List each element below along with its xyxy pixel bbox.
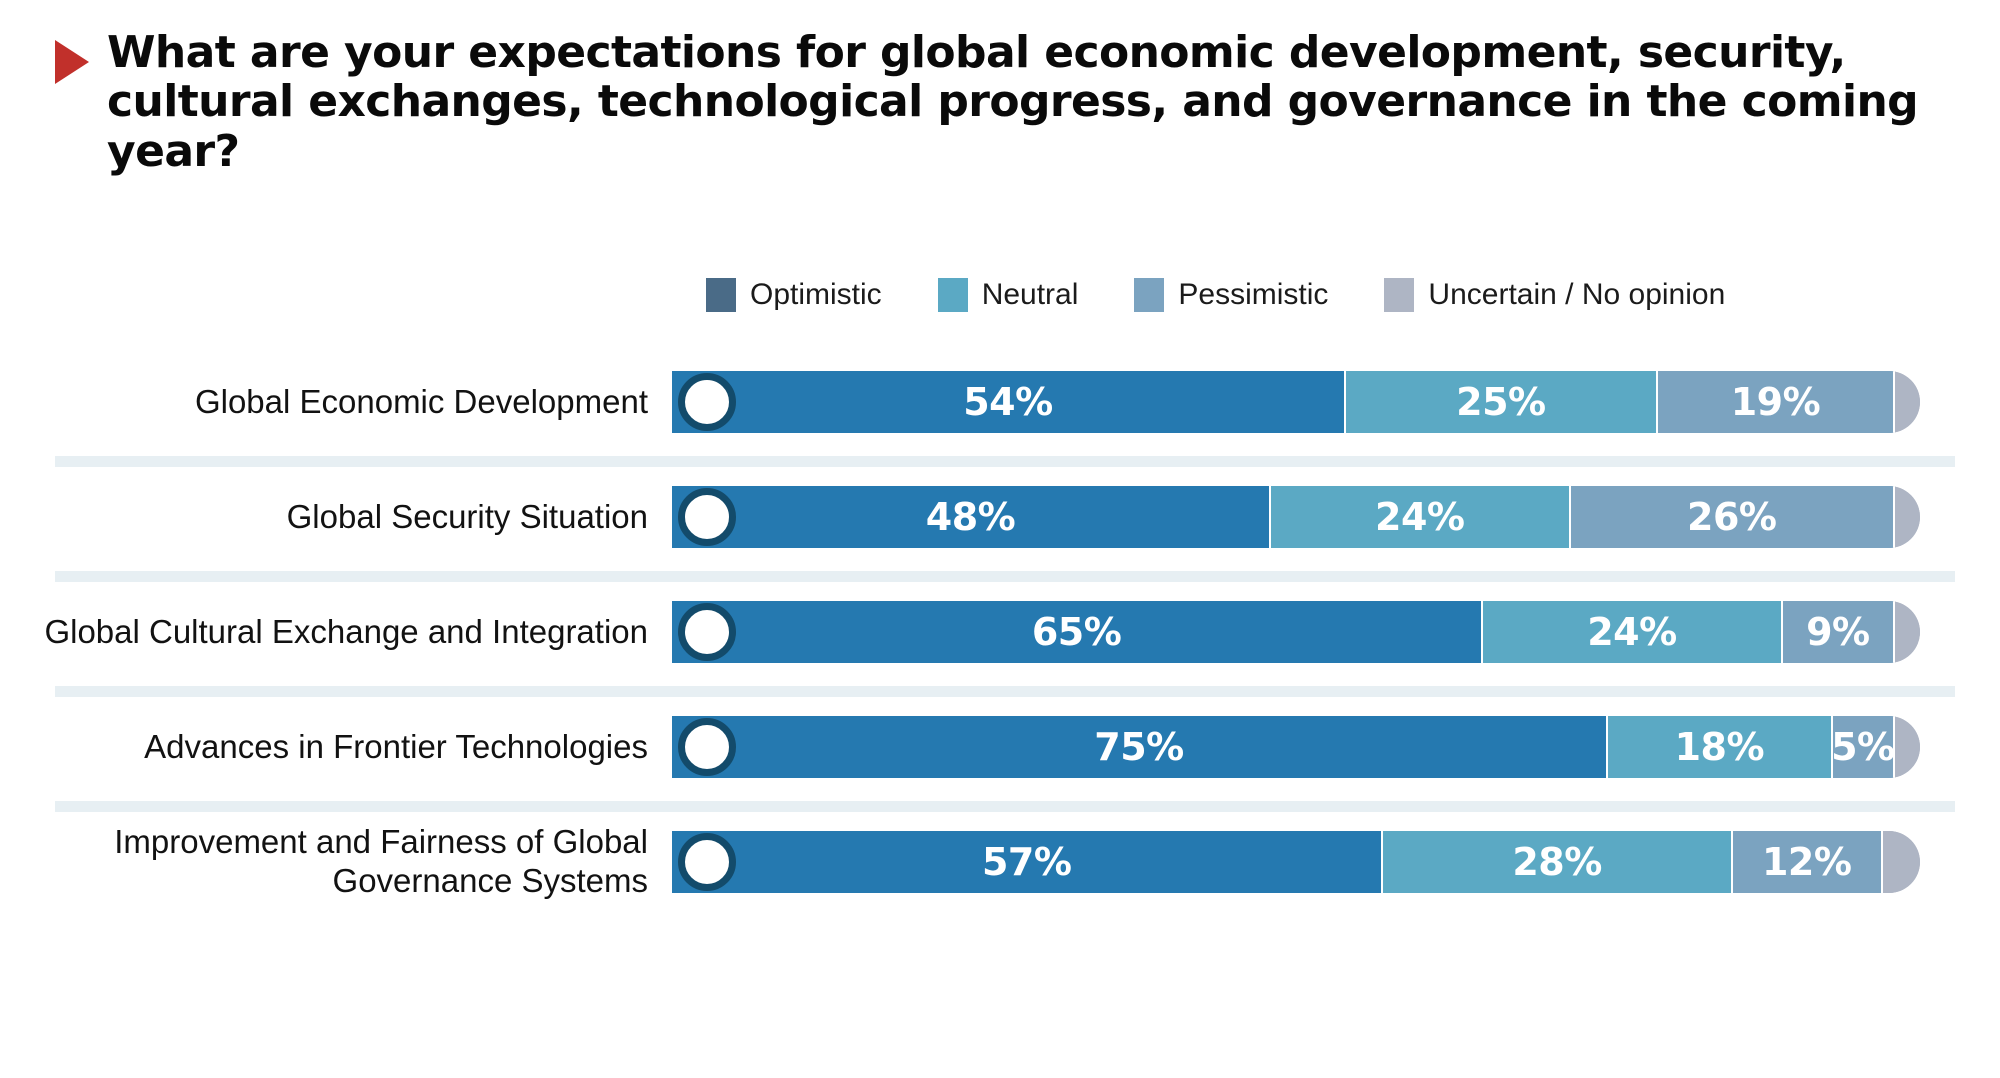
- stacked-bar-track: 57%28%12%3%: [672, 831, 1920, 893]
- bar-segment-value: 24%: [1375, 495, 1464, 539]
- chart-row: Global Economic Development54%25%19%2%: [0, 352, 2000, 452]
- bar-segment-uncertain[interactable]: 2%: [1895, 601, 1920, 663]
- legend-swatch-icon: [938, 278, 968, 312]
- bar-segment-value: 48%: [926, 495, 1015, 539]
- bar-segment-neutral[interactable]: 25%: [1346, 371, 1658, 433]
- bar-start-circle-icon: [678, 373, 736, 431]
- bar-segment-value: 5%: [1831, 725, 1895, 769]
- legend-swatch-icon: [1384, 278, 1414, 312]
- bar-segment-value: 25%: [1456, 380, 1545, 424]
- legend-item[interactable]: Uncertain / No opinion: [1384, 278, 1725, 312]
- chart-row: Improvement and Fairness of Global Gover…: [0, 812, 2000, 912]
- bar-segment-neutral[interactable]: 24%: [1483, 601, 1783, 663]
- stacked-bar-track: 48%24%26%2%: [672, 486, 1920, 548]
- bar-wrapper: 54%25%19%2%: [672, 371, 2000, 433]
- chart-rows: Global Economic Development54%25%19%2%Gl…: [0, 352, 2000, 912]
- row-separator-line: [55, 456, 1955, 467]
- chart-title-block: What are your expectations for global ec…: [55, 28, 1955, 176]
- page-title: What are your expectations for global ec…: [107, 28, 1937, 176]
- legend-item-label: Neutral: [982, 278, 1079, 312]
- bar-segment-neutral[interactable]: 18%: [1608, 716, 1833, 778]
- bar-segment-optimistic[interactable]: 65%: [672, 601, 1483, 663]
- infographic-page: What are your expectations for global ec…: [0, 0, 2000, 1078]
- bar-start-circle-icon: [678, 833, 736, 891]
- bar-start-circle-icon: [678, 488, 736, 546]
- row-label: Global Economic Development: [0, 383, 672, 422]
- bar-segment-value: 24%: [1587, 610, 1676, 654]
- row-separator: [0, 567, 2000, 582]
- row-label: Advances in Frontier Technologies: [0, 728, 672, 767]
- row-separator-line: [55, 571, 1955, 582]
- row-separator: [0, 682, 2000, 697]
- bar-segment-uncertain[interactable]: 2%: [1895, 716, 1920, 778]
- legend-swatch-icon: [706, 278, 736, 312]
- stacked-bar-track: 65%24%9%2%: [672, 601, 1920, 663]
- bar-segment-value: 12%: [1762, 840, 1851, 884]
- row-separator-line: [55, 801, 1955, 812]
- red-triangle-icon: [55, 40, 89, 84]
- bar-segment-neutral[interactable]: 24%: [1271, 486, 1571, 548]
- bar-wrapper: 48%24%26%2%: [672, 486, 2000, 548]
- bar-segment-value: 18%: [1675, 725, 1764, 769]
- bar-segment-optimistic[interactable]: 57%: [672, 831, 1383, 893]
- row-separator-line: [55, 686, 1955, 697]
- bar-segment-value: 28%: [1512, 840, 1601, 884]
- bar-segment-pessimistic[interactable]: 26%: [1571, 486, 1895, 548]
- chart-row: Advances in Frontier Technologies75%18%5…: [0, 697, 2000, 797]
- legend-item-label: Pessimistic: [1178, 278, 1328, 312]
- bar-segment-optimistic[interactable]: 75%: [672, 716, 1608, 778]
- row-separator: [0, 797, 2000, 812]
- legend-item[interactable]: Optimistic: [706, 278, 882, 312]
- bar-segment-pessimistic[interactable]: 12%: [1733, 831, 1883, 893]
- bar-start-circle-icon: [678, 603, 736, 661]
- bar-segment-uncertain[interactable]: 3%: [1883, 831, 1920, 893]
- bar-wrapper: 65%24%9%2%: [672, 601, 2000, 663]
- legend-item[interactable]: Pessimistic: [1134, 278, 1328, 312]
- bar-segment-value: 19%: [1731, 380, 1820, 424]
- bar-segment-pessimistic[interactable]: 19%: [1658, 371, 1895, 433]
- bar-wrapper: 57%28%12%3%: [672, 831, 2000, 893]
- legend-item-label: Optimistic: [750, 278, 882, 312]
- legend-item[interactable]: Neutral: [938, 278, 1079, 312]
- bar-start-circle-icon: [678, 718, 736, 776]
- bar-segment-value: 9%: [1806, 610, 1870, 654]
- bar-segment-value: 75%: [1094, 725, 1183, 769]
- stacked-bar-track: 54%25%19%2%: [672, 371, 1920, 433]
- row-label: Global Cultural Exchange and Integration: [0, 613, 672, 652]
- bar-segment-uncertain[interactable]: 2%: [1895, 371, 1920, 433]
- stacked-bar-track: 75%18%5%2%: [672, 716, 1920, 778]
- legend-swatch-icon: [1134, 278, 1164, 312]
- bar-segment-pessimistic[interactable]: 9%: [1783, 601, 1895, 663]
- row-label: Improvement and Fairness of Global Gover…: [0, 823, 672, 901]
- legend-item-label: Uncertain / No opinion: [1428, 278, 1725, 312]
- bar-segment-value: 57%: [982, 840, 1071, 884]
- bar-segment-value: 26%: [1687, 495, 1776, 539]
- chart-row: Global Cultural Exchange and Integration…: [0, 582, 2000, 682]
- row-label: Global Security Situation: [0, 498, 672, 537]
- bar-wrapper: 75%18%5%2%: [672, 716, 2000, 778]
- bar-segment-optimistic[interactable]: 54%: [672, 371, 1346, 433]
- bar-segment-pessimistic[interactable]: 5%: [1833, 716, 1895, 778]
- chart-legend: OptimisticNeutralPessimisticUncertain / …: [706, 278, 1725, 312]
- bar-segment-value: 65%: [1032, 610, 1121, 654]
- bar-segment-value: 54%: [963, 380, 1052, 424]
- bar-segment-uncertain[interactable]: 2%: [1895, 486, 1920, 548]
- bar-segment-neutral[interactable]: 28%: [1383, 831, 1732, 893]
- bar-segment-optimistic[interactable]: 48%: [672, 486, 1271, 548]
- chart-row: Global Security Situation48%24%26%2%: [0, 467, 2000, 567]
- row-separator: [0, 452, 2000, 467]
